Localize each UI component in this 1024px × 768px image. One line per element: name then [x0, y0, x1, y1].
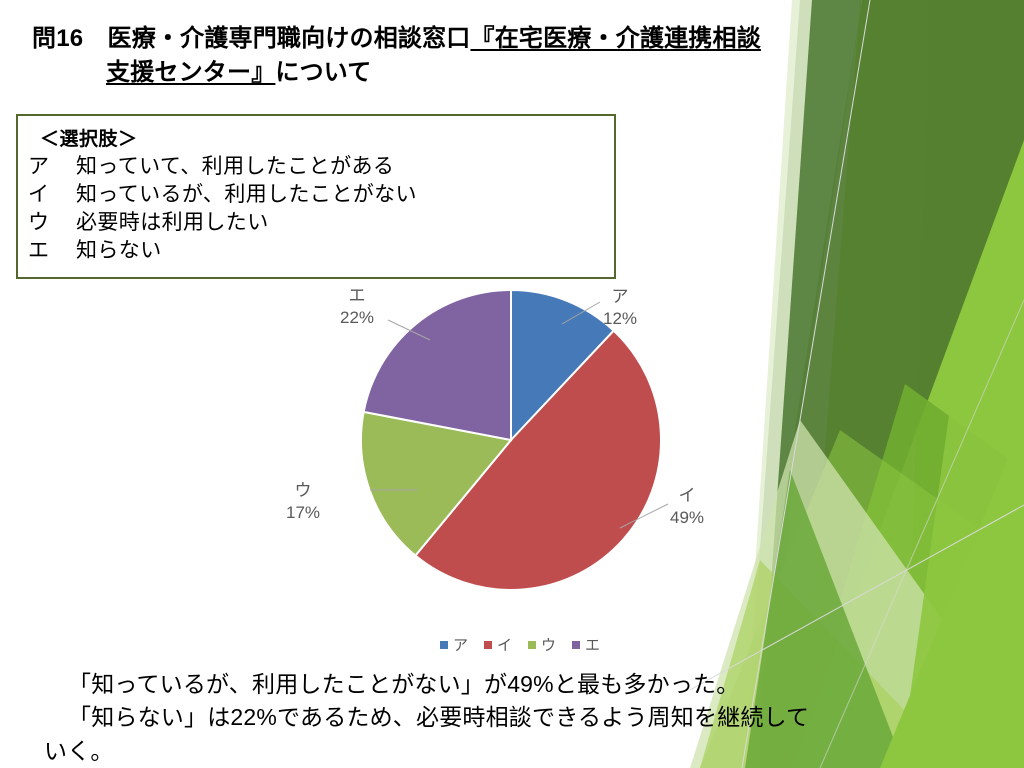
option-key-d: エ: [28, 237, 76, 265]
title-line-2: 支援センター』について: [106, 56, 832, 90]
pie-label-d: エ 22%: [340, 285, 374, 329]
option-key-a: ア: [28, 153, 76, 181]
title-line-1: 問16 医療・介護専門職向けの相談窓口『在宅医療・介護連携相談: [32, 22, 832, 56]
chart-legend: ア イ ウ エ: [440, 634, 600, 655]
option-row: ウ 必要時は利用したい: [28, 209, 614, 237]
summary-text: 「知っているが、利用したことがない」が49%と最も多かった。 「知らない」は22…: [44, 668, 944, 768]
pie-label-c-value: 17%: [286, 502, 320, 524]
slide-canvas: 問16 医療・介護専門職向けの相談窓口『在宅医療・介護連携相談 支援センター』に…: [0, 0, 1024, 768]
title-underlined-part-2: 支援センター』: [106, 59, 275, 86]
option-text-a: 知っていて、利用したことがある: [76, 153, 394, 181]
summary-line-3: いく。: [44, 735, 944, 768]
pie-label-d-value: 22%: [340, 307, 374, 329]
legend-item-d[interactable]: エ: [572, 634, 600, 655]
pie-label-c-name: ウ: [286, 480, 320, 502]
pie-chart: ア 12% イ 49% ウ 17% エ 22%: [270, 278, 750, 658]
option-text-c: 必要時は利用したい: [76, 209, 269, 237]
legend-label-b: イ: [497, 634, 512, 655]
legend-swatch-a-icon: [440, 641, 448, 649]
pie-label-a-name: ア: [603, 286, 637, 308]
title-suffix: について: [275, 59, 371, 86]
pie-label-b-value: 49%: [670, 507, 704, 529]
summary-line-1: 「知っているが、利用したことがない」が49%と最も多かった。: [68, 668, 944, 701]
pie-label-a-value: 12%: [603, 308, 637, 330]
pie-label-c: ウ 17%: [286, 480, 320, 524]
legend-swatch-d-icon: [572, 641, 580, 649]
page-title: 問16 医療・介護専門職向けの相談窓口『在宅医療・介護連携相談 支援センター』に…: [32, 22, 832, 90]
legend-label-c: ウ: [541, 634, 556, 655]
pie-label-b-name: イ: [670, 485, 704, 507]
option-key-c: ウ: [28, 209, 76, 237]
legend-item-b[interactable]: イ: [484, 634, 512, 655]
legend-swatch-c-icon: [528, 641, 536, 649]
pie-slice-group: [361, 290, 661, 590]
pie-label-d-name: エ: [340, 285, 374, 307]
legend-swatch-b-icon: [484, 641, 492, 649]
summary-line-2: 「知らない」は22%であるため、必要時相談できるよう周知を継続して: [68, 701, 944, 734]
pie-label-a: ア 12%: [603, 286, 637, 330]
option-row: エ 知らない: [28, 237, 614, 265]
title-prefix: 問16 医療・介護専門職向けの相談窓口: [32, 25, 471, 52]
options-heading: ＜選択肢＞: [40, 124, 614, 151]
options-box: ＜選択肢＞ ア 知っていて、利用したことがある イ 知っているが、利用したことが…: [16, 114, 616, 279]
option-key-b: イ: [28, 181, 76, 209]
legend-label-a: ア: [453, 634, 468, 655]
pie-label-b: イ 49%: [670, 485, 704, 529]
legend-label-d: エ: [585, 634, 600, 655]
option-text-b: 知っているが、利用したことがない: [76, 181, 417, 209]
pie-chart-svg: [270, 278, 750, 658]
title-underlined-part-1: 『在宅医療・介護連携相談: [471, 25, 761, 52]
legend-item-c[interactable]: ウ: [528, 634, 556, 655]
legend-item-a[interactable]: ア: [440, 634, 468, 655]
option-text-d: 知らない: [76, 237, 162, 265]
option-row: ア 知っていて、利用したことがある: [28, 153, 614, 181]
option-row: イ 知っているが、利用したことがない: [28, 181, 614, 209]
